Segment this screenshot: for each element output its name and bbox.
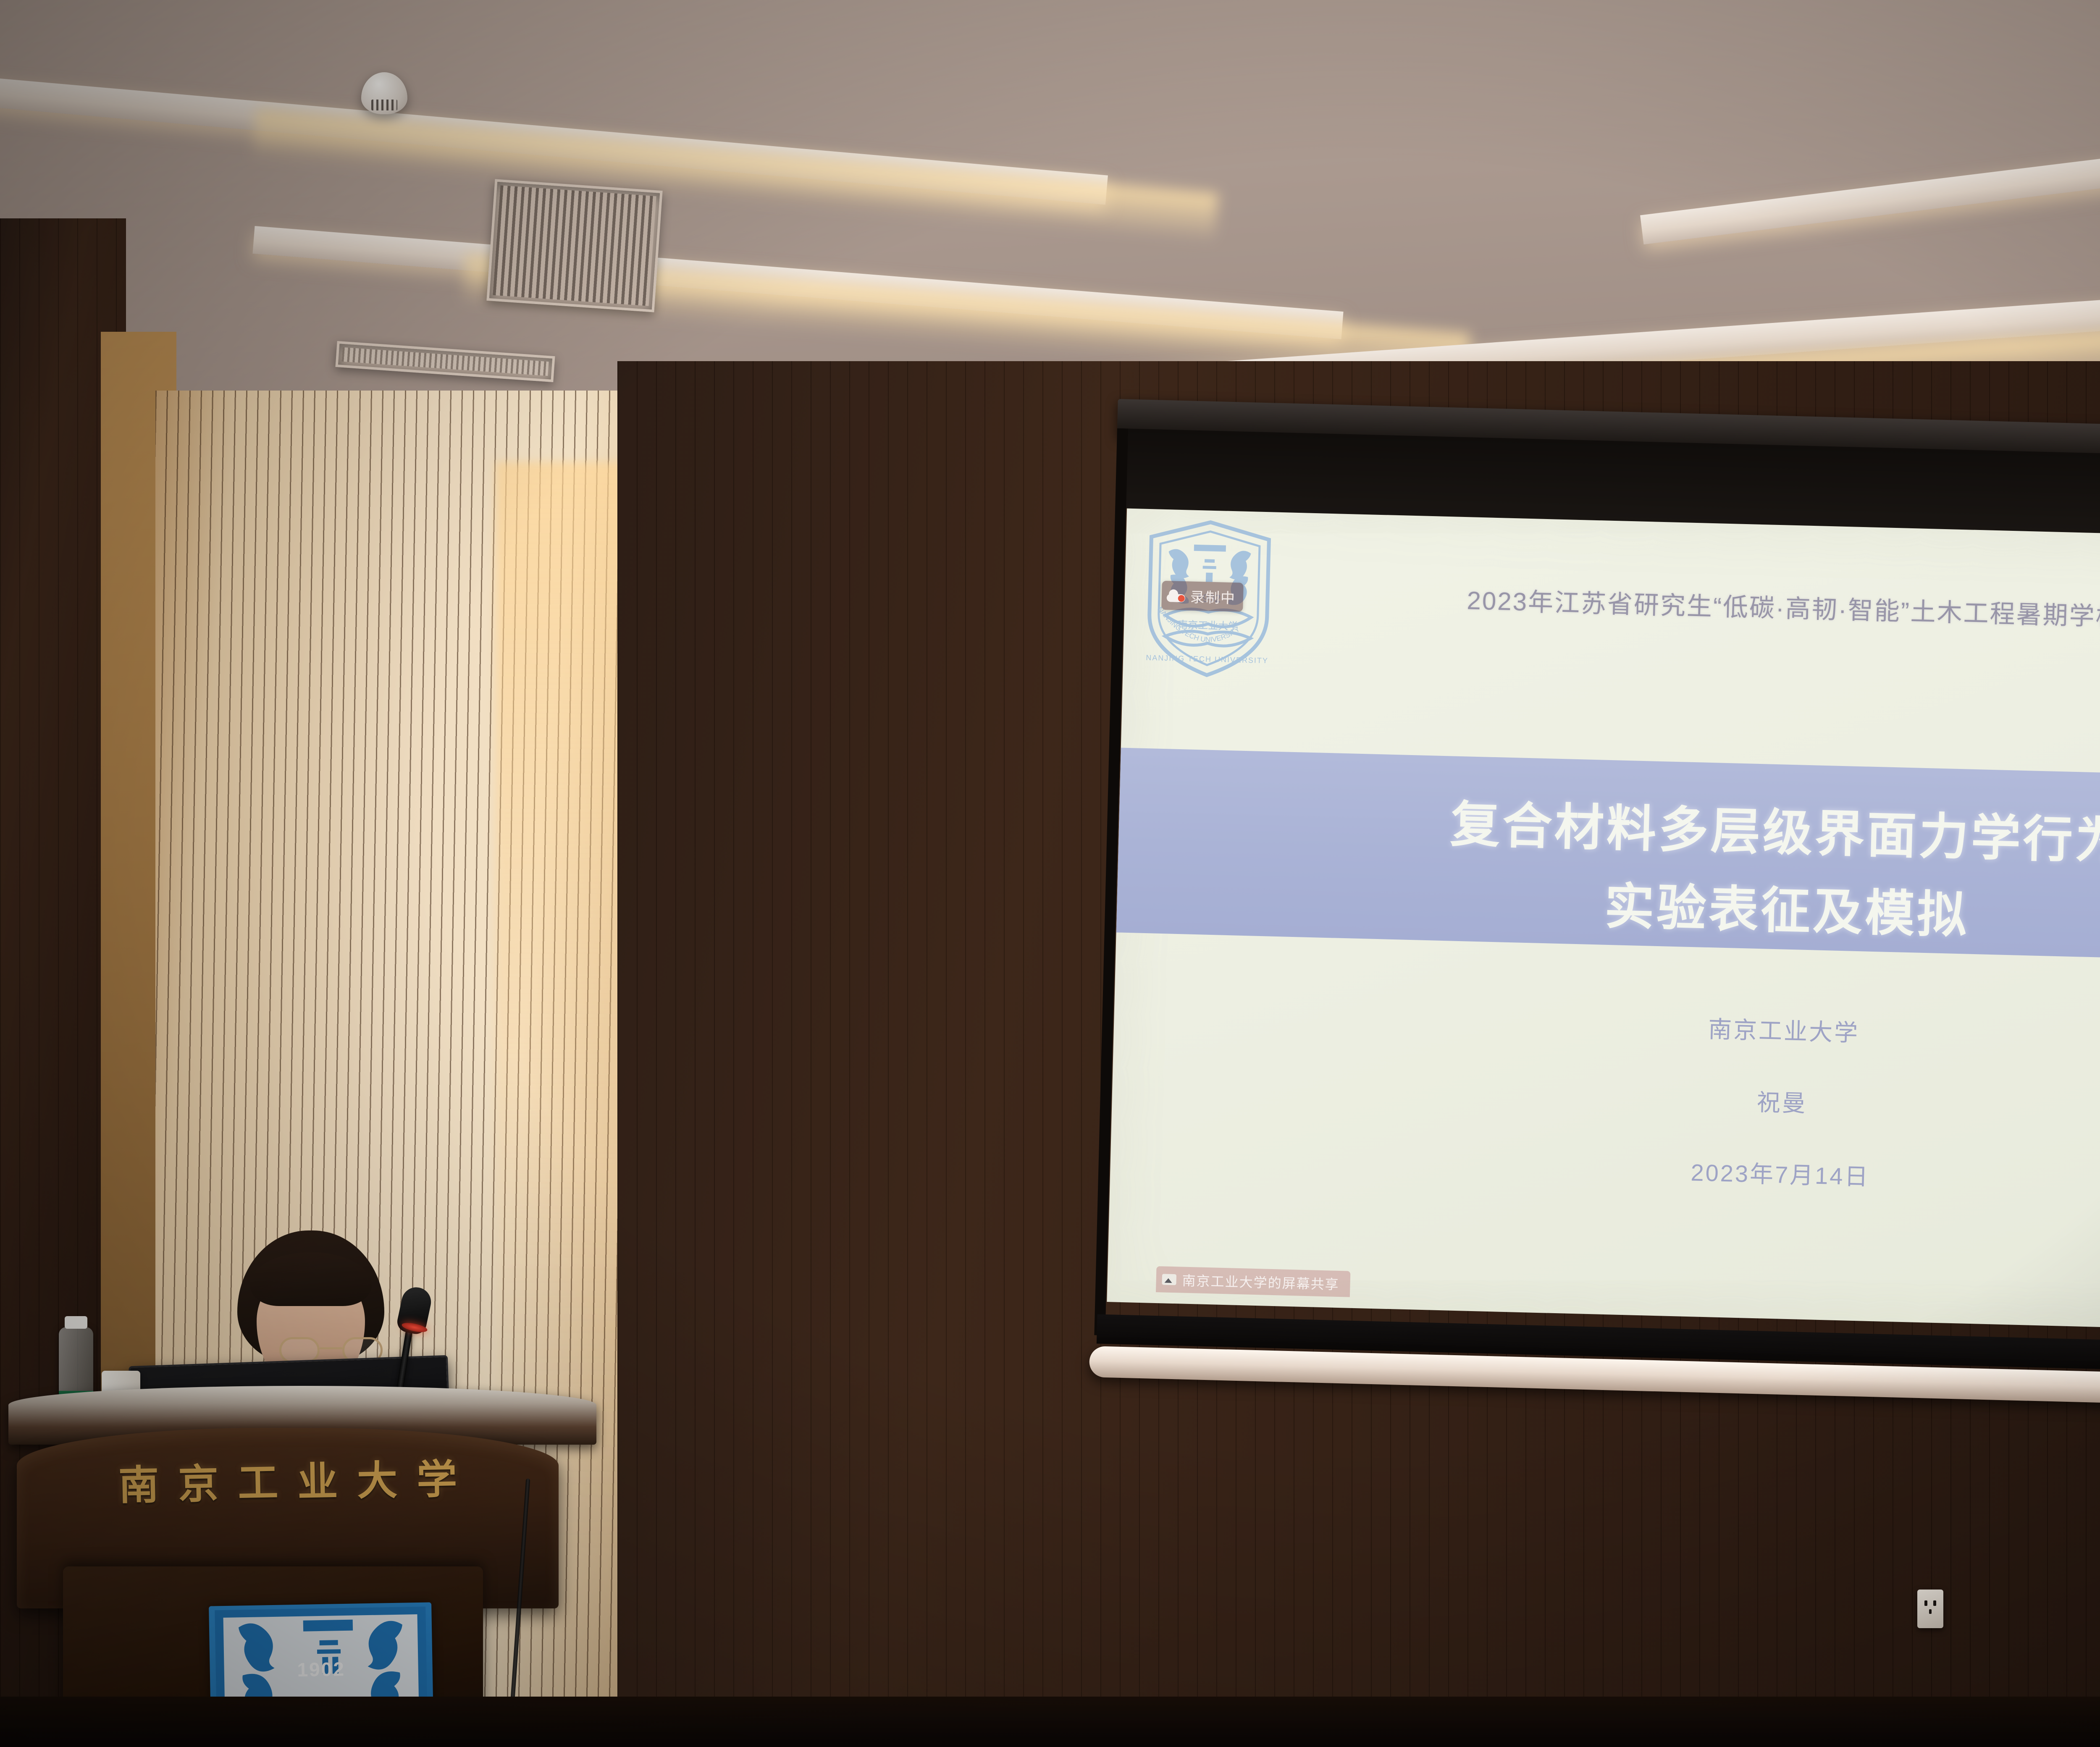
slide-title: 复合材料多层级界面力学行为 实验表征及模拟 (1116, 777, 2100, 967)
power-outlet (1917, 1590, 1943, 1628)
floor (0, 1697, 2100, 1747)
podium-area: ThinkPad 南京工业大学 (0, 1243, 655, 1747)
presentation-slide: 1902 南京工业大学 NANJING TECH UNIVERSITY NANJ… (1107, 509, 2100, 1336)
slide-meta: 南京工业大学 祝曼 2023年7月14日 (1110, 978, 2100, 1228)
emblem-year: 1902 (210, 1656, 433, 1682)
screen-share-banner: 南京工业大学的屏幕共享 (1156, 1266, 1350, 1297)
lecture-hall-photo: 1902 南京工业大学 NANJING TECH UNIVERSITY NANJ… (0, 0, 2100, 1747)
screen-share-icon (1162, 1274, 1176, 1285)
projection-screen: 1902 南京工业大学 NANJING TECH UNIVERSITY NANJ… (1093, 428, 2100, 1429)
svg-text:NANJING TECH UNIVERSITY: NANJING TECH UNIVERSITY (1146, 653, 1268, 665)
podium-engraved-text: 南京工业大学 (16, 1445, 559, 1514)
screen-share-label: 南京工业大学的屏幕共享 (1182, 1270, 1339, 1293)
hvac-vent (486, 179, 662, 312)
